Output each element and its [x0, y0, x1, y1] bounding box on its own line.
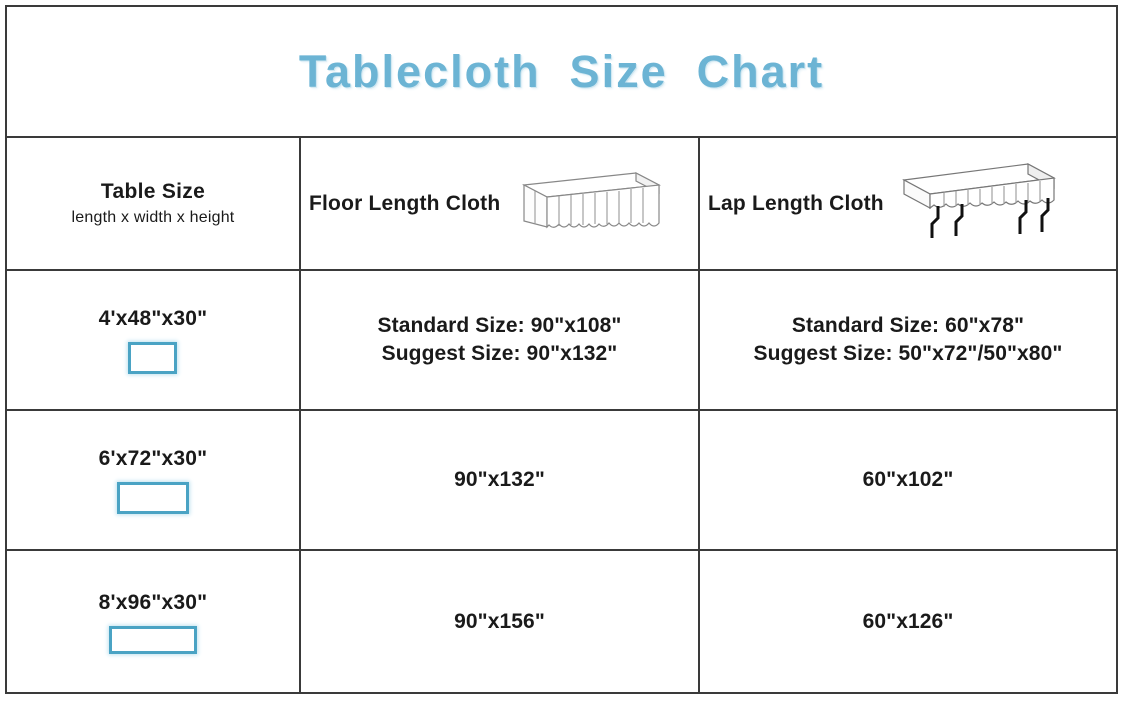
header-cell-floor-length: Floor Length Cloth	[301, 138, 700, 269]
table-shape-outline	[109, 626, 197, 654]
table-shape-outline	[128, 342, 177, 374]
table-row: 4'x48"x30" Standard Size: 90"x108" Sugge…	[7, 271, 1116, 411]
floor-length-size-value: Standard Size: 90"x108" Suggest Size: 90…	[378, 312, 622, 369]
lap-length-tablecloth-icon	[888, 156, 1060, 251]
table-shape-outline	[117, 482, 189, 514]
cell-lap-length-size: Standard Size: 60"x78" Suggest Size: 50"…	[700, 271, 1116, 409]
lap-length-size-value: 60"x102"	[863, 466, 954, 494]
header-lap-length-label: Lap Length Cloth	[708, 192, 884, 216]
cell-lap-length-size: 60"x126"	[700, 551, 1116, 694]
cell-table-size: 4'x48"x30"	[7, 271, 301, 409]
floor-length-size-value: 90"x132"	[454, 466, 545, 494]
cell-floor-length-size: 90"x132"	[301, 411, 700, 549]
header-table-size-title: Table Size	[72, 179, 235, 205]
table-header-row: Table Size length x width x height Floor…	[7, 138, 1116, 271]
lap-length-size-value: 60"x126"	[863, 608, 954, 636]
table-row: 6'x72"x30" 90"x132" 60"x102"	[7, 411, 1116, 551]
tablecloth-size-chart: Tablecloth Size Chart Table Size length …	[5, 5, 1118, 694]
cell-lap-length-size: 60"x102"	[700, 411, 1116, 549]
floor-length-tablecloth-icon	[504, 163, 664, 244]
cell-table-size: 8'x96"x30"	[7, 551, 301, 694]
page-title: Tablecloth Size Chart	[299, 46, 824, 98]
lap-length-size-value: Standard Size: 60"x78" Suggest Size: 50"…	[754, 312, 1063, 369]
floor-length-size-value: 90"x156"	[454, 608, 545, 636]
cell-floor-length-size: 90"x156"	[301, 551, 700, 694]
cell-table-size: 6'x72"x30"	[7, 411, 301, 549]
header-cell-lap-length: Lap Length Cloth	[700, 138, 1116, 269]
table-row: 8'x96"x30" 90"x156" 60"x126"	[7, 551, 1116, 694]
table-size-value: 8'x96"x30"	[99, 591, 208, 615]
header-floor-length-label: Floor Length Cloth	[309, 192, 500, 216]
header-table-size-subtitle: length x width x height	[72, 208, 235, 228]
cell-floor-length-size: Standard Size: 90"x108" Suggest Size: 90…	[301, 271, 700, 409]
header-cell-table-size: Table Size length x width x height	[7, 138, 301, 269]
table-size-value: 4'x48"x30"	[99, 307, 208, 331]
title-row: Tablecloth Size Chart	[7, 7, 1116, 138]
table-size-value: 6'x72"x30"	[99, 447, 208, 471]
